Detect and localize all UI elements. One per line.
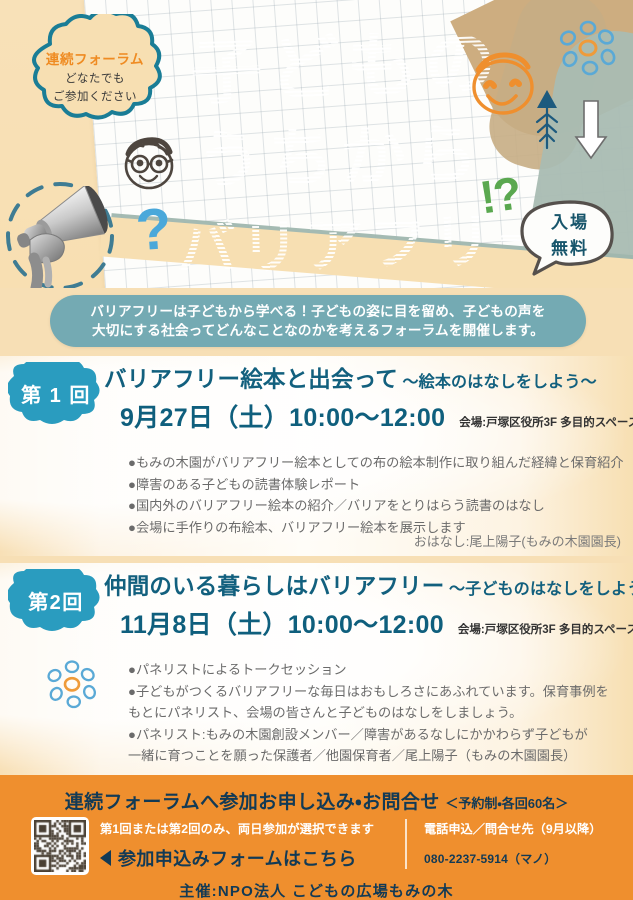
cloud-badge-line2: どなたでも [65,70,125,86]
ribbon-line-1: バリアフリーは子どもから学べる！子どもの姿に目を留め、子どもの声を [90,302,545,321]
qr-code[interactable] [31,817,89,875]
footer-section: 連続フォーラムへ参加お申し込み・お問合せ ＜予約制・各回60名＞ 第1回または第… [0,775,633,900]
title-line-2: うちから [195,100,485,203]
session-2-title: 仲間のいる暮らしはバリアフリー [104,574,445,599]
flower-doodle [556,18,620,82]
cloud-badge: 連続フォーラム どなたでも ご参加ください [16,14,174,134]
session-2-date: 11月8日（土）10:00〜12:00 [120,605,444,641]
footer-heading-main: 連続フォーラムへ参加お申し込み・お問合せ [65,792,440,813]
fir-tree-doodle [530,88,564,152]
cloud-badge-title: 連続フォーラム [46,48,144,68]
cloud-badge-line3: ご参加ください [53,88,137,104]
hero-section: 子どもの うちから バリアフリー ? !? [0,0,633,288]
footer-heading-note: ＜予約制・各回60名＞ [445,796,568,811]
session-1: 第 1 回 バリアフリー絵本と出会って 〜絵本のはなしをしよう〜 9月27日（土… [0,356,633,556]
session-1-bullets: ●もみの木園がバリアフリー絵本としての布の絵本制作に取り組んだ経緯と保育紹介 ●… [88,453,633,539]
footer-divider [405,819,407,869]
session-1-venue: 会場:戸塚区役所3F 多目的スペース [459,414,633,434]
footer-left-column: 第1回または第2回のみ、両日参加が選択できます 参加申込みフォームはこちら [100,819,400,871]
session-2: 第2回 仲間のいる暮らしはバリアフリー 〜子どものはなしをしよう〜 11月8日（… [0,563,633,775]
session-1-date-row: 9月27日（土）10:00〜12:00 会場:戸塚区役所3F 多目的スペース [120,398,633,434]
session-2-bullets: ●パネリストによるトークセッション ●子どもがつくるバリアフリーな毎日はおもしろ… [88,660,633,767]
list-item: ●子どもがつくるバリアフリーな毎日はおもしろさにあふれています。保育事例を [128,682,633,702]
registration-form-label: 参加申込みフォームはこちら [118,845,357,871]
session-2-badge-label: 第2回 [8,569,104,631]
session-1-date: 9月27日（土）10:00〜12:00 [120,398,445,434]
footer-tel-label: 電話申込／問合せ先（9月以降） [424,819,601,837]
session-1-badge-label: 第 1 回 [8,362,104,424]
list-item: ●障害のある子どもの読書体験レポート [128,475,633,495]
footer-right-column: 電話申込／問合せ先（9月以降） 080-2237-5914（マノ） [424,819,601,869]
session-1-credit: おはなし:尾上陽子(もみの木園園長) [414,531,621,550]
list-item: 一緒に育つことを願った保護者／他園保育者／尾上陽子（もみの木園園長） [128,746,633,766]
qr-code-image [34,820,86,872]
footer-organizer: 主催:NPO法人 こどもの広場もみの木 [0,880,633,900]
exclamation-question-doodle: !? [476,166,523,225]
registration-form-link[interactable]: 参加申込みフォームはこちら [100,845,400,871]
boy-with-glasses-doodle [112,126,186,200]
triangle-left-icon [100,850,111,866]
footer-tel-number: 080-2237-5914 [424,852,508,866]
poster-root: 子どもの うちから バリアフリー ? !? [0,0,633,900]
session-1-subtitle: 〜絵本のはなしをしよう〜 [402,374,596,391]
list-item: ●パネリストによるトークセッション [128,660,633,680]
session-2-heading: 仲間のいる暮らしはバリアフリー 〜子どものはなしをしよう〜 [104,569,633,601]
session-2-badge: 第2回 [8,569,104,631]
free-entry-line2: 無料 [551,234,589,259]
session-1-title: バリアフリー絵本と出会って [104,367,398,392]
session-1-heading: バリアフリー絵本と出会って 〜絵本のはなしをしよう〜 [104,362,597,394]
list-item: ●パネリスト:もみの木園創設メンバー／障害があるなしにかかわらず子どもが [128,725,633,745]
session-1-badge: 第 1 回 [8,362,104,424]
list-item: もとにパネリスト、会場の皆さんと子どものはなしをしましょう。 [128,703,633,723]
footer-tel-suffix: （マノ） [508,852,556,866]
down-arrow-doodle [572,98,610,162]
session-2-subtitle: 〜子どものはなしをしよう〜 [449,581,633,598]
footer-participation-note: 第1回または第2回のみ、両日参加が選択できます [100,819,400,837]
megaphone-icon [2,186,132,288]
footer-telephone[interactable]: 080-2237-5914（マノ） [424,843,601,869]
free-entry-line1: 入場 [551,208,589,233]
session-2-date-row: 11月8日（土）10:00〜12:00 会場:戸塚区役所3F 多目的スペース [120,605,633,641]
ribbon-line-2: 大切にする社会ってどんなことなのかを考えるフォーラムを開催します。 [92,321,544,340]
intro-ribbon: バリアフリーは子どもから学べる！子どもの姿に目を留め、子どもの声を 大切にする社… [50,295,586,347]
list-item: ●もみの木園がバリアフリー絵本としての布の絵本制作に取り組んだ経緯と保育紹介 [128,453,633,473]
list-item: ●国内外のバリアフリー絵本の紹介／バリアをとりはらう読書のはなし [128,496,633,516]
session-2-venue: 会場:戸塚区役所3F 多目的スペース [458,621,633,641]
footer-heading: 連続フォーラムへ参加お申し込み・お問合せ ＜予約制・各回60名＞ [0,787,633,814]
free-entry-bubble: 入場 無料 [520,198,620,276]
